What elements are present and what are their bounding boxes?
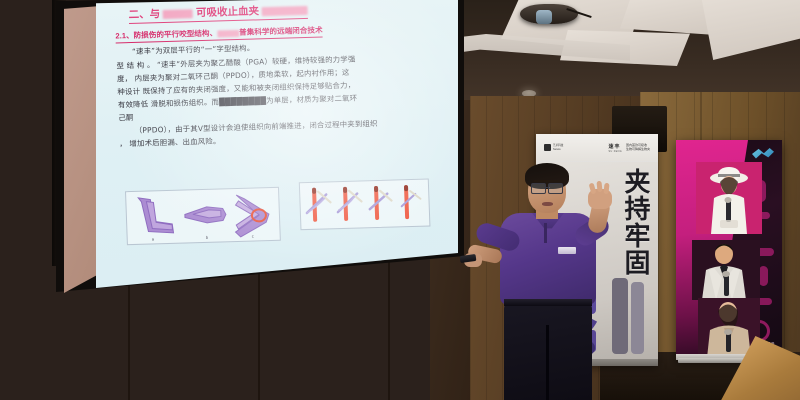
man-in-light-suit-holding-award-icon [692, 240, 760, 300]
slide-section-heading: 2.1、防损伤的平行咬型结构、普集科学的远端闭合技术 [115, 24, 323, 43]
redacted-text [163, 9, 193, 19]
banner-logo-en: Suture [553, 148, 563, 151]
woman-in-white-hat-holding-award-icon [696, 162, 762, 234]
projector-lens-icon [536, 10, 552, 24]
svg-text:b: b [206, 235, 209, 240]
wave-mark-logo-icon [752, 147, 774, 159]
brand-mark-icon [544, 144, 551, 151]
presenter-brow [533, 180, 561, 182]
projection-screen: 二、与 可吸收止血夹 2.1、防损伤的平行咬型结构、普集科学的远端闭合技术 “速… [96, 0, 458, 288]
presentation-photo-scene: 二、与 可吸收止血夹 2.1、防损伤的平行咬型结构、普集科学的远端闭合技术 “速… [0, 0, 800, 400]
eyeglasses-icon [531, 183, 563, 192]
svg-text:c: c [252, 234, 254, 239]
banner-photo-2 [692, 240, 760, 300]
banner-tagline-2: 生物可降解生物夹 [626, 148, 650, 152]
presenter [470, 155, 660, 400]
slide-content: 二、与 可吸收止血夹 2.1、防损伤的平行咬型结构、普集科学的远端闭合技术 “速… [96, 0, 458, 288]
clip-jaw-illustrations: a b c [126, 188, 280, 244]
banner-logo: 艺术科技 Suture [544, 144, 563, 151]
svg-text:a: a [152, 236, 155, 241]
banner-pink-logo-sub [775, 161, 776, 164]
presenter-placket [544, 223, 547, 243]
presenter-finger [596, 181, 602, 192]
banner-pink: 中国风采 [676, 140, 782, 360]
figure-clip-jaws: a b c [125, 187, 281, 245]
figure-clip-sequence [299, 178, 431, 230]
banner-brand-sub: SU FENG [609, 150, 622, 153]
redacted-text [262, 6, 308, 16]
redacted-text [217, 29, 239, 37]
presenter-belt [504, 299, 592, 306]
banner-photo-1 [696, 162, 762, 234]
presenter-mouth [542, 202, 553, 206]
decor-stroke [759, 266, 768, 286]
clip-application-sequence [300, 180, 430, 230]
presenter-chest-badge [558, 247, 576, 254]
banner-brand: 速丰 [609, 143, 622, 150]
presenter-leg-split [546, 325, 549, 400]
